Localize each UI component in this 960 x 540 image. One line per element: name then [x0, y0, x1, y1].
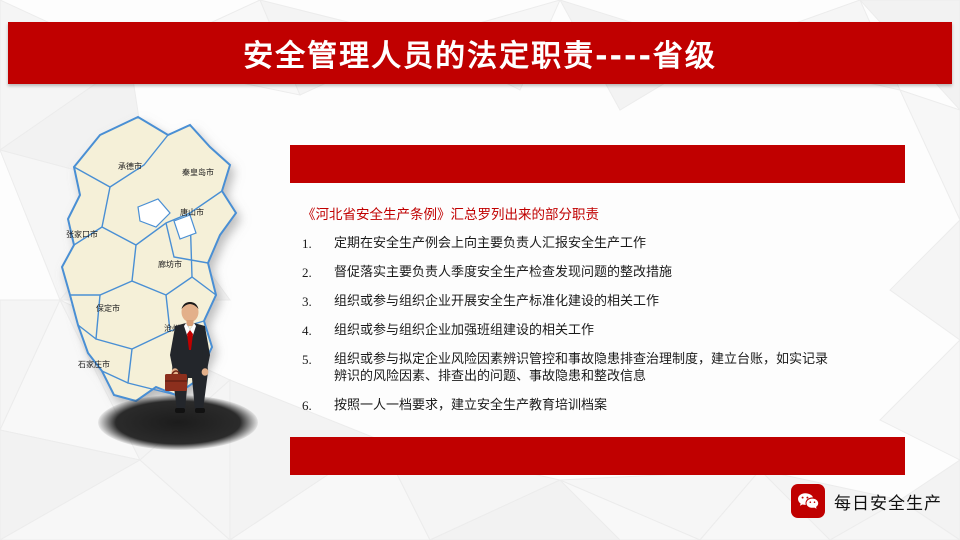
map-label-zhangjiakou: 张家口市 — [66, 229, 98, 239]
slide-root: 安全管理人员的法定职责----省级 — [0, 0, 960, 540]
list-item-text: 组织或参与组织企业开展安全生产标准化建设的相关工作 — [334, 293, 898, 310]
map-label-baoding: 保定市 — [96, 303, 120, 313]
list-item-number: 4. — [302, 322, 328, 339]
list-item-text: 定期在安全生产例会上向主要负责人汇报安全生产工作 — [334, 235, 898, 252]
list-item: 2. 督促落实主要负责人季度安全生产检查发现问题的整改措施 — [298, 264, 898, 281]
slide-title-bar: 安全管理人员的法定职责----省级 — [8, 22, 952, 84]
responsibility-list: 1. 定期在安全生产例会上向主要负责人汇报安全生产工作 2. 督促落实主要负责人… — [298, 235, 898, 426]
map-label-langfang: 廊坊市 — [158, 259, 182, 269]
list-item-number: 5. — [302, 351, 328, 368]
list-item-number: 3. — [302, 293, 328, 310]
list-item-continuation: 辨识的风险因素、排查出的问题、事故隐患和整改信息 — [334, 369, 646, 384]
watermark-label: 每日安全生产 — [834, 489, 942, 514]
footer-watermark: 每日安全生产 — [791, 484, 942, 518]
list-item-text: 按照一人一档要求，建立安全生产教育培训档案 — [334, 397, 898, 414]
page-title: 安全管理人员的法定职责----省级 — [8, 31, 952, 75]
content-bottom-bar — [290, 437, 905, 475]
content-body: 《河北省安全生产条例》汇总罗列出来的部分职责 1. 定期在安全生产例会上向主要负… — [290, 183, 905, 437]
businessman-figure — [155, 300, 225, 425]
list-item-text: 组织或参与拟定企业风险因素辨识管控和事故隐患排查治理制度，建立台账，如实记录 — [334, 351, 898, 368]
list-item: 3. 组织或参与组织企业开展安全生产标准化建设的相关工作 — [298, 293, 898, 310]
list-item: 1. 定期在安全生产例会上向主要负责人汇报安全生产工作 — [298, 235, 898, 252]
list-item-text: 督促落实主要负责人季度安全生产检查发现问题的整改措施 — [334, 264, 898, 281]
list-item-number: 2. — [302, 264, 328, 281]
content-subtitle: 《河北省安全生产条例》汇总罗列出来的部分职责 — [302, 203, 599, 223]
content-top-bar — [290, 145, 905, 183]
list-item-text: 组织或参与组织企业加强班组建设的相关工作 — [334, 322, 898, 339]
list-item-number: 6. — [302, 397, 328, 414]
map-label-chengde: 承德市 — [118, 161, 142, 171]
list-item-number: 1. — [302, 235, 328, 252]
list-item: 4. 组织或参与组织企业加强班组建设的相关工作 — [298, 322, 898, 339]
illustration-group: 承德市 秦皇岛市 唐山市 张家口市 廊坊市 保定市 沧州市 石家庄市 — [40, 95, 290, 475]
list-item: 6. 按照一人一档要求，建立安全生产教育培训档案 — [298, 397, 898, 414]
wechat-icon — [791, 484, 825, 518]
list-item: 5. 组织或参与拟定企业风险因素辨识管控和事故隐患排查治理制度，建立台账，如实记… — [298, 351, 898, 385]
map-label-qinhuangdao: 秦皇岛市 — [182, 167, 214, 177]
map-label-shijiazhuang: 石家庄市 — [78, 359, 110, 369]
map-label-tangshan: 唐山市 — [180, 207, 204, 217]
